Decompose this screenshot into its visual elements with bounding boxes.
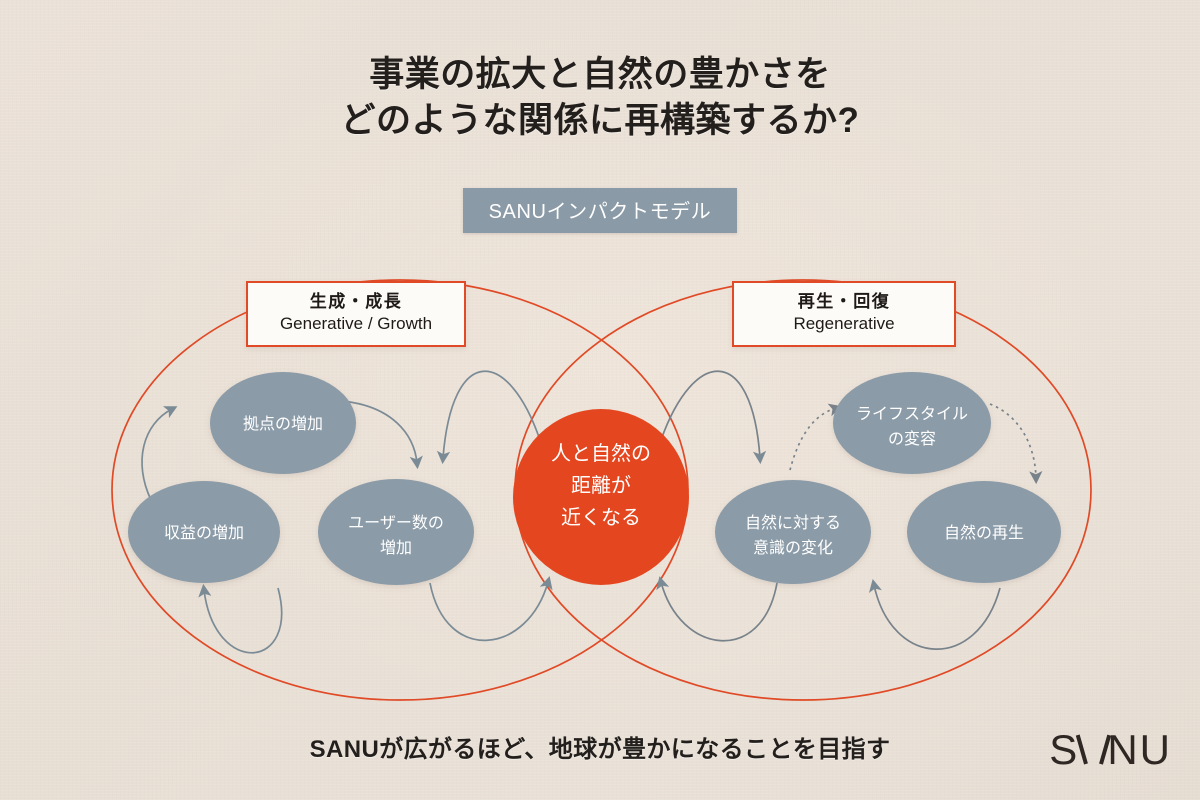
arrow-awareness-to-lifestyle	[790, 408, 836, 470]
category-regenerative-jp: 再生・回復	[748, 291, 940, 312]
footer-tagline: SANUが広がるほど、地球が豊かになることを目指す	[310, 729, 891, 764]
node-sites-label: 拠点の増加	[243, 415, 323, 433]
core-label-2: 距離が	[571, 474, 631, 497]
category-box-generative[interactable]: 生成・成長 Generative / Growth	[246, 281, 466, 347]
category-box-regenerative[interactable]: 再生・回復 Regenerative	[732, 281, 956, 347]
node-awareness-label-2: 意識の変化	[753, 538, 833, 557]
logo-u: U	[1140, 726, 1172, 774]
node-revenue[interactable]: 収益の増加	[128, 481, 280, 583]
node-lifestyle[interactable]: ライフスタイル の変容	[833, 372, 991, 474]
node-lifestyle-label-1: ライフスタイル	[856, 405, 968, 423]
core-label-3: 近くなる	[561, 506, 641, 529]
node-restoration-label: 自然の再生	[944, 524, 1024, 542]
core-node[interactable]: 人と自然の 距離が 近くなる	[513, 409, 689, 585]
logo-a-glyph	[1080, 734, 1106, 764]
node-users[interactable]: ユーザー数の 増加	[318, 479, 474, 585]
node-awareness-label-1: 自然に対する	[745, 514, 841, 532]
node-revenue-label: 収益の増加	[164, 524, 244, 542]
logo-s: S	[1049, 726, 1079, 774]
arrow-users-to-core	[430, 582, 548, 640]
category-generative-en: Generative / Growth	[262, 313, 450, 335]
sanu-logo: S N U	[1049, 726, 1172, 774]
logo-n: N	[1107, 726, 1139, 774]
arrow-users-to-revenue	[204, 588, 282, 653]
arrow-restoration-to-awareness	[874, 585, 1000, 649]
arrow-awareness-to-core	[661, 582, 777, 641]
category-regenerative-en: Regenerative	[748, 313, 940, 335]
footer-container: SANUが広がるほど、地球が豊かになることを目指す	[0, 729, 1200, 764]
node-sites[interactable]: 拠点の増加	[210, 372, 356, 474]
node-awareness[interactable]: 自然に対する 意識の変化	[715, 480, 871, 584]
node-users-label-2: 増加	[380, 539, 412, 557]
node-lifestyle-label-2: の変容	[888, 430, 936, 448]
arrow-lifestyle-to-restoration	[990, 404, 1036, 478]
node-restoration[interactable]: 自然の再生	[907, 481, 1061, 583]
impact-model-diagram: 拠点の増加 収益の増加 ユーザー数の 増加 ライフスタイル の変容 自然に対する…	[0, 0, 1200, 800]
core-label-1: 人と自然の	[551, 442, 651, 465]
node-users-label-1: ユーザー数の	[348, 514, 444, 532]
arrow-revenue-to-sites	[142, 409, 172, 500]
arrow-core-to-users	[443, 371, 540, 458]
arrow-core-to-awareness	[661, 371, 760, 458]
category-generative-jp: 生成・成長	[262, 291, 450, 312]
